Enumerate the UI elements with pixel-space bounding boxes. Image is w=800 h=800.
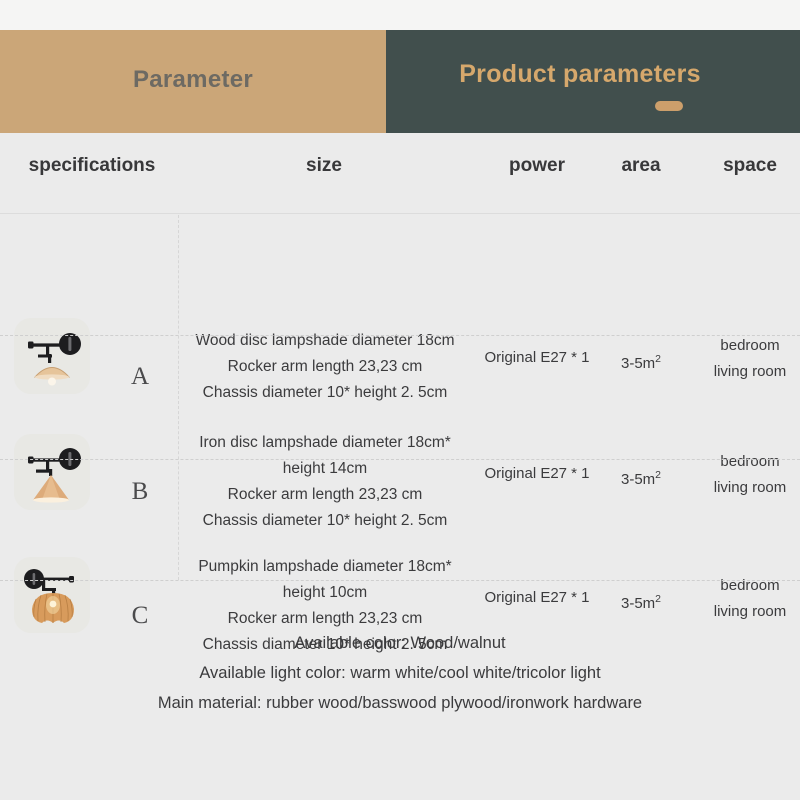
area-value: 3-5m bbox=[621, 355, 655, 372]
tab-product-parameters[interactable]: Product parameters bbox=[386, 30, 800, 133]
power-cell: Original E27 * 1 bbox=[484, 585, 589, 611]
size-line: Wood disc lampshade diameter 18cm bbox=[192, 328, 458, 354]
note-available-light-color: Available light color: warm white/cool w… bbox=[0, 658, 800, 688]
power-cell: Original E27 * 1 bbox=[484, 345, 589, 371]
tab-product-parameters-label: Product parameters bbox=[459, 60, 701, 89]
note-main-material: Main material: rubber wood/basswood plyw… bbox=[0, 688, 800, 718]
space-line: living room bbox=[714, 359, 787, 385]
size-line: Rocker arm length 23,23 cm bbox=[192, 482, 458, 508]
space-line: bedroom bbox=[714, 573, 787, 599]
space-line: living room bbox=[714, 475, 787, 501]
column-header-space: space bbox=[723, 155, 777, 177]
size-line: height 10cm bbox=[192, 580, 458, 606]
space-line: bedroom bbox=[714, 333, 787, 359]
size-line: Chassis diameter 10* height 2. 5cm bbox=[192, 508, 458, 534]
column-header-area: area bbox=[621, 155, 660, 177]
area-cell: 3-5m2 bbox=[621, 586, 661, 617]
size-line: Iron disc lampshade diameter 18cm* bbox=[192, 430, 458, 456]
table-bottom-separator bbox=[0, 580, 800, 581]
size-line: Pumpkin lampshade diameter 18cm* bbox=[192, 554, 458, 580]
spec-table-header-row: specifications size power area space bbox=[0, 133, 800, 213]
top-strip bbox=[0, 0, 800, 30]
product-notes: Available color: Wood/walnut Available l… bbox=[0, 628, 800, 718]
space-line: living room bbox=[714, 599, 787, 625]
row-separator bbox=[0, 335, 800, 336]
space-line: bedroom bbox=[714, 449, 787, 475]
tab-parameter[interactable]: Parameter bbox=[0, 30, 386, 133]
area-cell: 3-5m2 bbox=[621, 462, 661, 493]
size-line: Rocker arm length 23,23 cm bbox=[192, 354, 458, 380]
header-separator bbox=[0, 213, 800, 214]
area-unit-exponent: 2 bbox=[655, 593, 661, 605]
spec-table: specifications size power area space bbox=[0, 133, 800, 213]
size-line: Chassis diameter 10* height 2. 5cm bbox=[192, 380, 458, 406]
space-cell: bedroom living room bbox=[714, 333, 787, 385]
tab-bar: Parameter Product parameters bbox=[0, 30, 800, 133]
area-unit-exponent: 2 bbox=[655, 469, 661, 481]
row-separator bbox=[0, 459, 800, 460]
variant-letter: C bbox=[132, 602, 149, 630]
size-cell: Wood disc lampshade diameter 18cm Rocker… bbox=[192, 328, 458, 406]
product-thumbnail-c[interactable] bbox=[14, 557, 90, 633]
space-cell: bedroom living room bbox=[714, 449, 787, 501]
tab-parameter-label: Parameter bbox=[133, 66, 253, 98]
power-cell: Original E27 * 1 bbox=[484, 461, 589, 487]
column-header-specifications: specifications bbox=[29, 155, 156, 177]
product-thumbnail-b[interactable] bbox=[14, 434, 90, 510]
size-cell: Iron disc lampshade diameter 18cm* heigh… bbox=[192, 430, 458, 534]
area-cell: 3-5m2 bbox=[621, 346, 661, 377]
variant-letter: A bbox=[131, 363, 149, 391]
column-header-size: size bbox=[306, 155, 342, 177]
column-divider bbox=[178, 215, 179, 580]
area-value: 3-5m bbox=[621, 595, 655, 612]
product-thumbnail-a[interactable] bbox=[14, 318, 90, 394]
variant-letter: B bbox=[132, 478, 149, 506]
active-tab-indicator-icon bbox=[655, 101, 683, 111]
column-header-power: power bbox=[509, 155, 565, 177]
area-value: 3-5m bbox=[621, 471, 655, 488]
note-available-color: Available color: Wood/walnut bbox=[0, 628, 800, 658]
product-parameters-page: Parameter Product parameters specificati… bbox=[0, 0, 800, 800]
area-unit-exponent: 2 bbox=[655, 353, 661, 365]
